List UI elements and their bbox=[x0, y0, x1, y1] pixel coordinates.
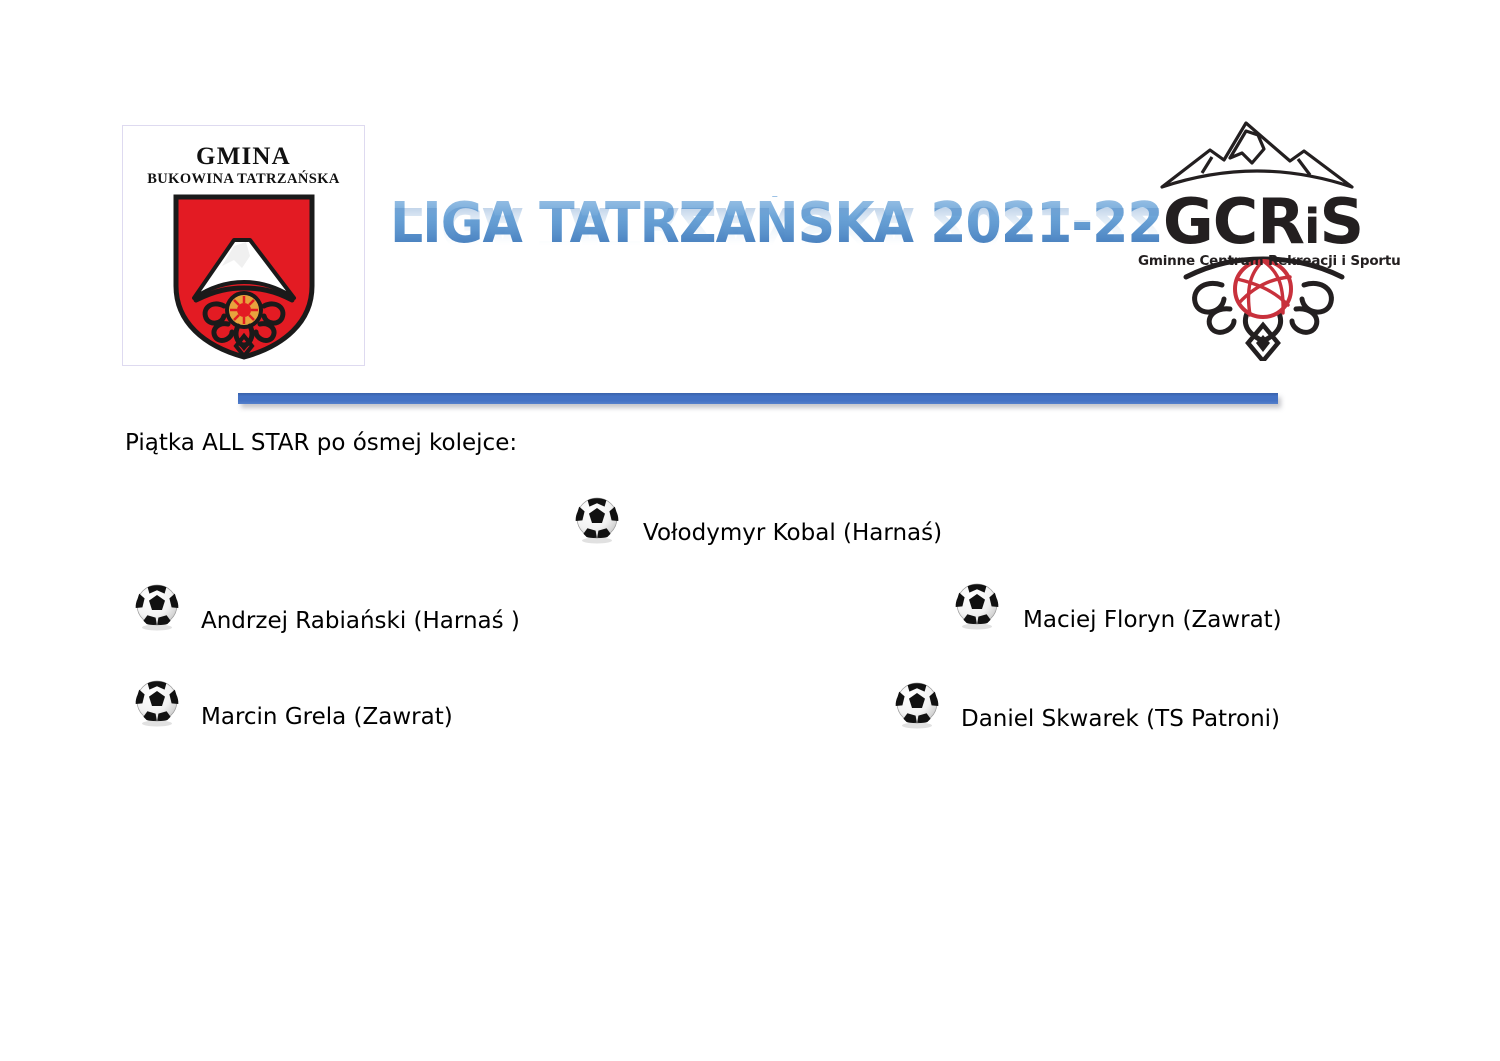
soccer-ball-icon bbox=[133, 679, 181, 727]
list-item: Daniel Skwarek (TS Patroni) bbox=[893, 676, 1280, 734]
list-item: Vołodymyr Kobal (Harnaś) bbox=[573, 492, 942, 548]
page-title-text: LIGA TATRZAŃSKA 2021-22 bbox=[390, 196, 1163, 252]
soccer-ball-icon bbox=[953, 582, 1001, 630]
list-item: Maciej Floryn (Zawrat) bbox=[953, 577, 1282, 635]
gmina-logo: GMINA BUKOWINA TATRZAŃSKA bbox=[123, 126, 364, 365]
event-title-block: LIGA TATRZAŃSKA 2021-22 LIGA TATRZAŃSKA … bbox=[390, 196, 1120, 306]
page-title: LIGA TATRZAŃSKA 2021-22 bbox=[390, 196, 1221, 252]
gmina-subtitle: BUKOWINA TATRZAŃSKA bbox=[123, 172, 364, 187]
gcris-wordmark-part3: S bbox=[1319, 185, 1363, 258]
player-name: Vołodymyr Kobal (Harnaś) bbox=[643, 518, 942, 548]
gcris-wordmark-part2: i bbox=[1304, 199, 1319, 255]
intro-text: Piątka ALL STAR po ósmej kolejce: bbox=[125, 428, 517, 458]
player-name: Marcin Grela (Zawrat) bbox=[201, 702, 453, 732]
header-band: GMINA BUKOWINA TATRZAŃSKA bbox=[0, 0, 1500, 380]
player-name: Maciej Floryn (Zawrat) bbox=[1023, 605, 1282, 635]
gmina-shield-icon bbox=[172, 194, 316, 360]
gcris-logo: GCRiS Gminne Centrum Rekreacji i Sportu bbox=[1138, 113, 1388, 361]
player-name: Daniel Skwarek (TS Patroni) bbox=[961, 704, 1280, 734]
divider-bar bbox=[238, 393, 1278, 404]
list-item: Marcin Grela (Zawrat) bbox=[133, 674, 453, 732]
list-item: Andrzej Rabiański (Harnaś ) bbox=[133, 578, 520, 636]
soccer-ball-icon bbox=[893, 681, 941, 729]
soccer-ball-icon bbox=[133, 583, 181, 631]
gmina-title: GMINA bbox=[123, 144, 364, 169]
gcris-wordmark-part1: GCR bbox=[1163, 185, 1304, 258]
gmina-logo-frame: GMINA BUKOWINA TATRZAŃSKA bbox=[122, 125, 365, 366]
mountain-outline-icon bbox=[1162, 123, 1352, 187]
soccer-ball-icon bbox=[573, 496, 621, 544]
player-name: Andrzej Rabiański (Harnaś ) bbox=[201, 606, 520, 636]
gcris-subtitle: Gminne Centrum Rekreacji i Sportu bbox=[1138, 253, 1388, 269]
gcris-wordmark: GCRiS bbox=[1138, 191, 1388, 258]
volleyball-icon bbox=[1235, 261, 1291, 317]
